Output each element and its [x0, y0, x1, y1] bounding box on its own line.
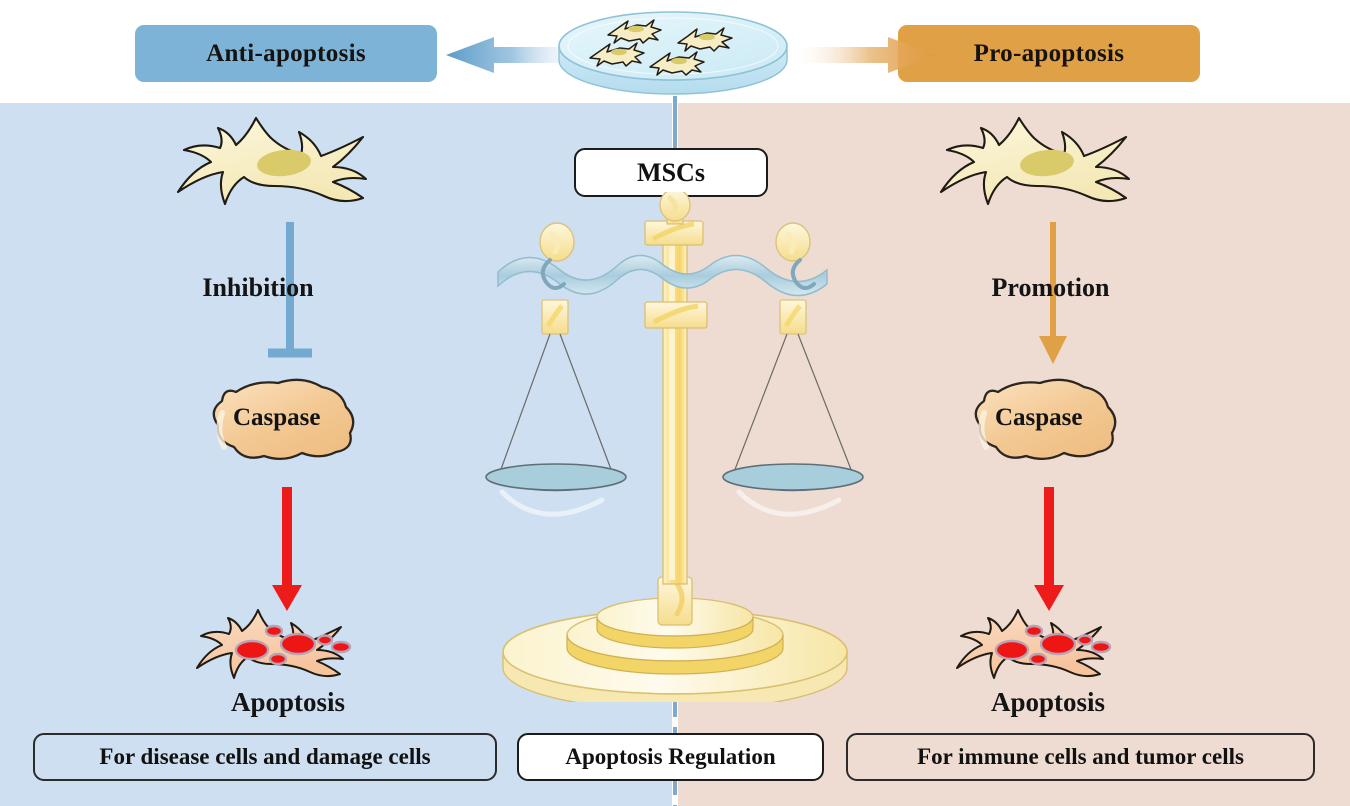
mscs-label-chip[interactable]: MSCs [574, 148, 768, 197]
dashed-vertical-divider-icon [673, 103, 677, 806]
caspase-label-right: Caspase [995, 404, 1083, 432]
anti-apoptosis-banner[interactable]: Anti-apoptosis [135, 25, 437, 82]
arrow-right-gradient-icon [790, 37, 940, 73]
right-footer-chip[interactable]: For immune cells and tumor cells [846, 733, 1315, 781]
apoptosis-label-right: Apoptosis [938, 687, 1158, 718]
apoptosis-label-left: Apoptosis [178, 687, 398, 718]
inhibition-label: Inhibition [173, 273, 343, 303]
arrow-left-gradient-icon [442, 37, 592, 73]
caspase-label-left: Caspase [233, 404, 321, 432]
pro-apoptosis-banner[interactable]: Pro-apoptosis [898, 25, 1200, 82]
promotion-label: Promotion [963, 273, 1138, 303]
figure-canvas: Anti-apoptosis Pro-apoptosis [0, 0, 1350, 806]
left-footer-chip[interactable]: For disease cells and damage cells [33, 733, 497, 781]
apoptosis-regulation-chip[interactable]: Apoptosis Regulation [517, 733, 824, 781]
